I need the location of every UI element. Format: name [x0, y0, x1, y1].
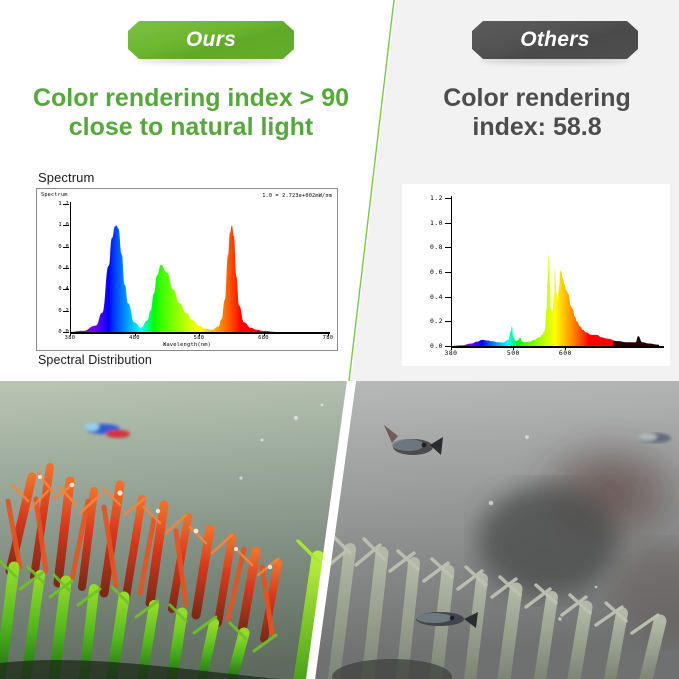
others-headline-line-1: Color rendering [413, 84, 661, 113]
y-tick-mark [445, 198, 451, 199]
others-x-axis-line [451, 346, 664, 348]
ours-chart-annotation: 1.0 = 2.723e+002mW/nm [262, 193, 332, 199]
y-tick: 0.0 [37, 332, 69, 333]
y-tick-label: 1.2 [430, 194, 443, 202]
y-tick: 0.2 [402, 321, 443, 322]
ours-chart-caption: Spectral Distribution [38, 353, 338, 367]
y-tick-label: 0.2 [430, 317, 443, 325]
y-tick: 0.0 [402, 346, 443, 347]
others-spectrum-curve [451, 198, 659, 346]
top-comparison-area: Ours Others Color rendering index > 90 c… [0, 0, 679, 381]
x-tick-label: 480 [129, 335, 140, 341]
ours-chart-title: Spectrum [38, 170, 338, 185]
y-tick-label: 0.6 [58, 265, 69, 271]
ours-headline-line-1: Color rendering index > 90 [30, 84, 352, 113]
ours-spectrum-curve [70, 204, 328, 332]
x-tick-label: 580 [194, 335, 205, 341]
y-tick-label: 1.2 [58, 201, 69, 207]
others-headline-line-2: index: 58.8 [413, 113, 661, 142]
y-tick-label: 1.0 [58, 222, 69, 228]
y-tick: 0.6 [37, 268, 69, 269]
photo-comparison-area [0, 381, 679, 679]
y-tick: 0.4 [37, 289, 69, 290]
y-tick-label: 1.0 [430, 219, 443, 227]
y-tick: 0.6 [402, 272, 443, 273]
y-tick-mark [445, 247, 451, 248]
y-tick-label: 0.6 [430, 268, 443, 276]
y-tick-mark [445, 297, 451, 298]
x-tick-label: 380 [65, 335, 76, 341]
y-tick: 1.2 [402, 198, 443, 199]
ours-x-axis-line [70, 332, 330, 334]
ours-headline-line-2: close to natural light [30, 113, 352, 142]
ours-badge-label: Ours [186, 28, 236, 52]
x-tick-label: 780 [323, 335, 334, 341]
y-tick-mark [445, 223, 451, 224]
others-spectrum-chart-block: 0.00.20.40.60.81.01.2 380500600 [402, 184, 670, 366]
x-tick-label: 380 [444, 349, 457, 357]
ours-headline: Color rendering index > 90 close to natu… [30, 84, 352, 143]
y-tick-label: 0.4 [58, 286, 69, 292]
comparison-infographic: Ours Others Color rendering index > 90 c… [0, 0, 679, 679]
y-tick: 1.2 [37, 204, 69, 205]
x-tick-label: 500 [507, 349, 520, 357]
others-headline: Color rendering index: 58.8 [413, 84, 661, 143]
y-tick: 0.2 [37, 311, 69, 312]
others-badge: Others [472, 21, 638, 59]
y-tick-mark [445, 272, 451, 273]
y-tick: 0.8 [402, 247, 443, 248]
ours-badge: Ours [128, 21, 294, 59]
y-tick-mark [445, 321, 451, 322]
y-tick-label: 0.8 [58, 244, 69, 250]
ours-x-axis-title: Wavelength(nm) [37, 342, 337, 348]
x-tick-label: 680 [258, 335, 269, 341]
x-tick-label: 600 [559, 349, 572, 357]
y-tick: 1.0 [37, 225, 69, 226]
y-tick-label: 0.8 [430, 243, 443, 251]
y-tick: 0.4 [402, 297, 443, 298]
others-badge-label: Others [520, 28, 590, 52]
ours-chart-box: Spectrum 1.0 = 2.723e+002mW/nm 0.00.20.4… [36, 188, 338, 351]
y-tick: 0.8 [37, 247, 69, 248]
ours-chart-inner-title: Spectrum [41, 192, 68, 198]
y-tick-label: 0.0 [430, 342, 443, 350]
y-tick-label: 0.4 [430, 293, 443, 301]
y-tick-label: 0.2 [58, 308, 69, 314]
y-tick: 1.0 [402, 223, 443, 224]
ours-spectrum-chart-block: Spectrum Spectrum 1.0 = 2.723e+002mW/nm … [36, 170, 338, 367]
